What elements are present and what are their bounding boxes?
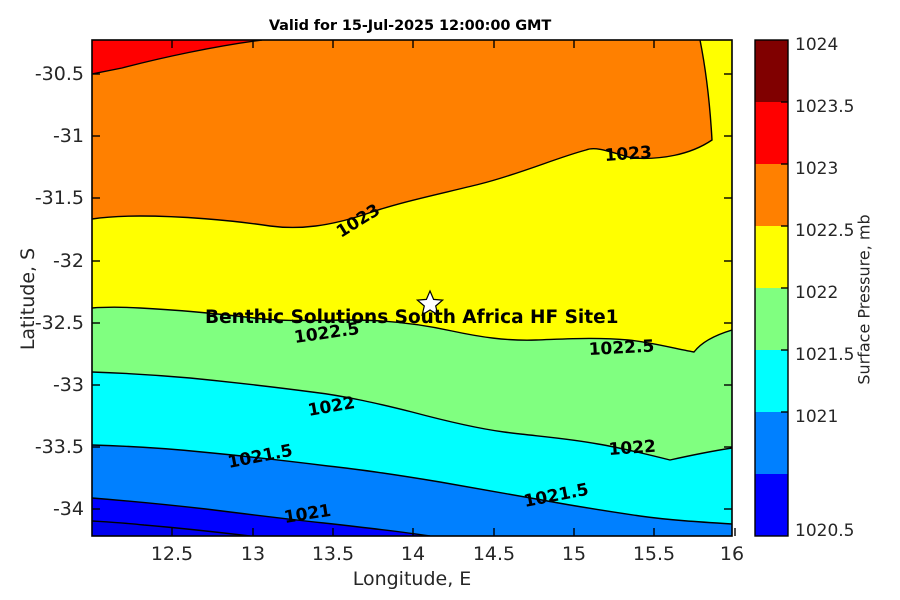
ytick-label-5: -33: [0, 374, 84, 396]
colorbar-label-2: 1023: [795, 159, 838, 179]
colorbar-label-1: 1023.5: [795, 97, 854, 117]
colorbar-swatch-1020_5: [755, 474, 788, 536]
colorbar-swatch-1021: [755, 412, 788, 474]
ytick-label-2: -31.5: [0, 187, 84, 209]
xtick-label-3: 14: [401, 543, 425, 565]
colorbar-label-4: 1022: [795, 283, 838, 303]
colorbar-label-3: 1022.5: [795, 221, 854, 241]
xtick-label-5: 15: [562, 543, 586, 565]
colorbar-swatch-1021_5: [755, 350, 788, 412]
colorbar-swatch-1024: [755, 40, 788, 102]
contour-label-1023-right: 1023: [604, 143, 653, 166]
colorbar-label-5: 1021.5: [795, 345, 854, 365]
x-axis-title: Longitude, E: [92, 568, 732, 590]
xtick-label-1: 13: [241, 543, 265, 565]
colorbar-label-7: 1020.5: [795, 521, 854, 541]
colorbar-label-0: 1024: [795, 35, 838, 55]
contour-bands: [92, 40, 732, 536]
contour-label-1022_5-right: 1022.5: [588, 337, 655, 360]
xtick-label-4: 14.5: [473, 543, 515, 565]
contour-plot-canvas: 1023 1023 1022.5 1022.5 1022 1022 1021.5…: [0, 0, 900, 600]
colorbar-swatch-1022: [755, 288, 788, 350]
ytick-label-4: -32.5: [0, 312, 84, 334]
colorbar-label-6: 1021: [795, 407, 838, 427]
xtick-label-0: 12.5: [151, 543, 193, 565]
y-axis-title: Latitude, S: [17, 169, 39, 429]
colorbar-swatch-1023_5: [755, 102, 788, 164]
ytick-label-3: -32: [0, 250, 84, 272]
ytick-label-0: -30.5: [0, 63, 84, 85]
colorbar-swatch-1023: [755, 164, 788, 226]
site-marker-label: Benthic Solutions South Africa HF Site1: [205, 307, 619, 328]
ytick-label-1: -31: [0, 125, 84, 147]
xtick-label-2: 13.5: [312, 543, 354, 565]
xtick-label-6: 15.5: [633, 543, 675, 565]
colorbar-swatch-1022_5: [755, 226, 788, 288]
colorbar-title: Surface Pressure, mb: [855, 150, 874, 450]
contour-label-1022-right: 1022: [608, 437, 657, 460]
colorbar: [755, 40, 788, 536]
ytick-label-7: -34: [0, 498, 84, 520]
xtick-label-7: 16: [720, 543, 744, 565]
figure-root: Valid for 15-Jul-2025 12:00:00 GMT: [0, 0, 900, 600]
ytick-label-6: -33.5: [0, 436, 84, 458]
